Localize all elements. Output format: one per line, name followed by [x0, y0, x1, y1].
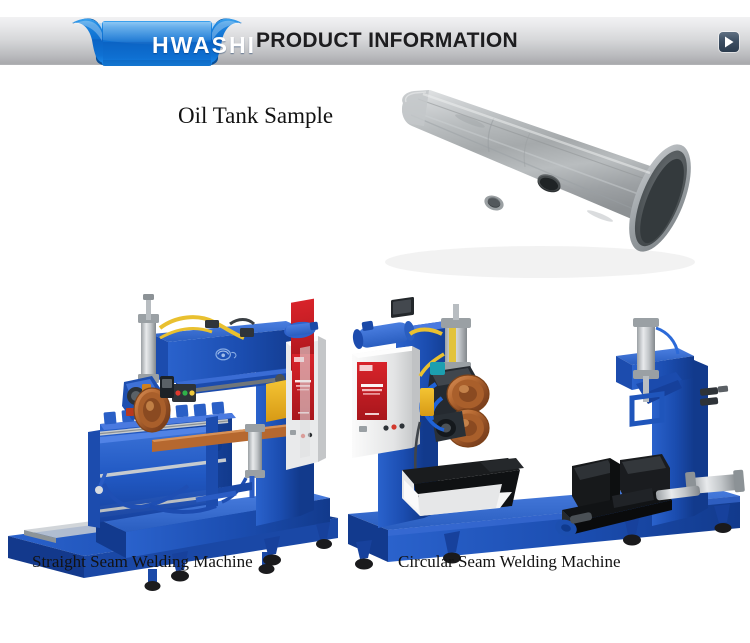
caption-straight-seam-welding-machine: Straight Seam Welding Machine [32, 551, 253, 573]
brand-logo-tab[interactable]: HWASHI [52, 10, 258, 66]
oil-tank-photo [385, 90, 704, 278]
straight-seam-welding-machine-photo [8, 294, 338, 591]
caption-circular-seam-welding-machine: Circular Seam Welding Machine [398, 551, 621, 573]
circular-seam-welding-machine-photo [348, 297, 745, 570]
product-information-banner: PRODUCT INFORMATION [0, 0, 750, 643]
page-title: PRODUCT INFORMATION [256, 28, 518, 54]
next-button[interactable] [719, 32, 739, 52]
brand-logo-text: HWASHI [124, 32, 284, 58]
play-triangle-icon [724, 36, 734, 48]
